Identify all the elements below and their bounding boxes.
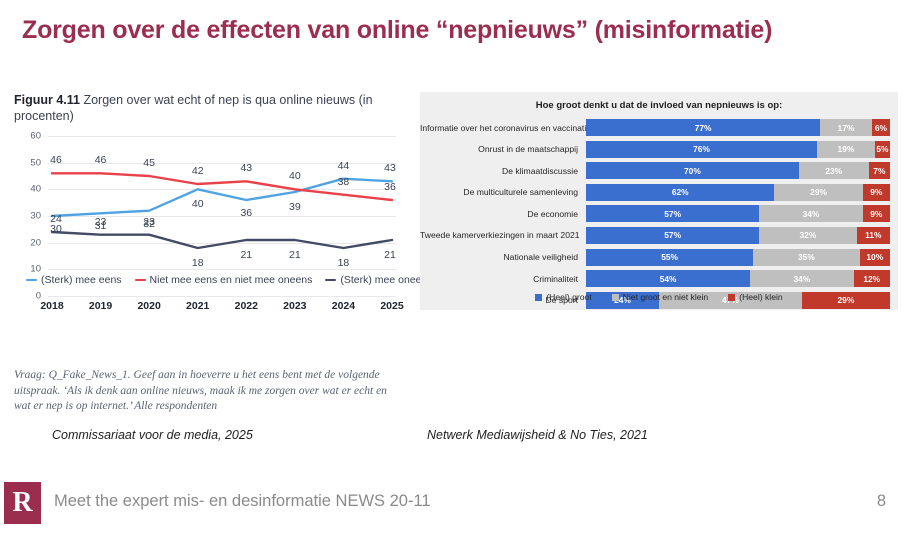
line-chart-legend: (Sterk) mee eensNiet mee eens en niet me… [26,274,398,286]
bar-category-label: Criminaliteit [420,274,586,284]
bar-legend-item-0[interactable]: (Heel) groot [535,292,591,302]
x-axis-tick-label: 2023 [283,300,306,312]
data-point-label: 46 [50,154,62,166]
bar-segment-red: 9% [863,184,890,201]
bar-category-label: De economie [420,209,586,219]
data-point-label: 43 [240,162,252,174]
bar-row: De multiculturele samenleving62%29%9% [420,183,890,202]
line-series-2 [52,232,392,248]
bar-row: De klimaatdiscussie70%23%7% [420,161,890,180]
data-point-label: 18 [338,257,350,269]
y-axis-tick-label: 40 [30,184,41,195]
legend-item-1[interactable]: Niet mee eens en niet mee oneens [135,274,313,286]
question-note: Vraag: Q_Fake_News_1. Geef aan in hoever… [14,368,394,415]
data-point-label: 40 [289,170,301,182]
line-chart: 0102030405060303132403639444346464542434… [14,136,398,326]
page-number: 8 [877,492,886,511]
brand-logo: R [4,482,41,524]
data-point-label: 21 [240,249,252,261]
legend-label: (Sterk) mee eens [41,274,122,286]
bar-row: Criminaliteit54%34%12% [420,269,890,288]
legend-label: (Sterk) mee oneens [340,274,432,286]
data-point-label: 45 [143,157,155,169]
bar-segment-blue: 55% [586,249,753,266]
right-chart-panel: Hoe groot denkt u dat de invloed van nep… [420,92,898,310]
bar-segment-red: 9% [863,205,890,222]
data-point-label: 46 [95,154,107,166]
data-point-label: 36 [384,181,396,193]
bar-segment-blue: 77% [586,119,820,136]
bar-segment-gray: 19% [817,141,875,158]
data-point-label: 36 [240,207,252,219]
x-axis-tick-label: 2020 [137,300,160,312]
source-left: Commissariaat voor de media, 2025 [52,428,253,442]
bar-row: Tweede kamerverkiezingen in maart 202157… [420,226,890,245]
legend-swatch-icon [26,279,37,281]
data-point-label: 38 [338,176,350,188]
legend-swatch-icon [535,294,542,301]
data-point-label: 21 [289,249,301,261]
bar-segment-blue: 70% [586,162,799,179]
bar-legend-label: (Heel) groot [546,292,591,302]
data-point-label: 21 [384,249,396,261]
legend-item-0[interactable]: (Sterk) mee eens [26,274,122,286]
bar-track: 55%35%10% [586,249,890,266]
legend-item-2[interactable]: (Sterk) mee oneens [325,274,432,286]
bar-track: 70%23%7% [586,162,890,179]
bar-category-label: Informatie over het coronavirus en vacci… [420,123,586,133]
bar-row: Informatie over het coronavirus en vacci… [420,118,890,137]
bar-legend-item-1[interactable]: Niet groot en niet klein [612,292,709,302]
bar-row: Onrust in de maatschappij76%19%5% [420,140,890,159]
y-axis-tick-label: 30 [30,211,41,222]
y-axis-tick-label: 50 [30,157,41,168]
data-point-label: 23 [143,216,155,228]
data-point-label: 44 [338,160,350,172]
line-chart-plot-area: 0102030405060303132403639444346464542434… [48,136,396,296]
bar-legend-label: Niet groot en niet klein [623,292,709,302]
bar-segment-blue: 54% [586,270,750,287]
bar-chart-rows: Informatie over het coronavirus en vacci… [420,118,890,312]
bar-track: 77%17%6% [586,119,890,136]
legend-swatch-icon [612,294,619,301]
data-point-label: 43 [384,162,396,174]
gridline: 0 [48,296,396,297]
bar-segment-gray: 35% [753,249,859,266]
data-point-label: 40 [192,198,204,210]
figure-caption: Figuur 4.11 Zorgen over wat echt of nep … [14,92,400,124]
bar-row: Nationale veiligheid55%35%10% [420,248,890,267]
bar-track: 57%34%9% [586,205,890,222]
figure-number: Figuur 4.11 [14,93,80,107]
slide-root: Zorgen over de effecten van online “nepn… [0,0,908,538]
bar-track: 54%34%12% [586,270,890,287]
bar-segment-gray: 23% [799,162,869,179]
bar-legend-item-2[interactable]: (Heel) klein [728,292,782,302]
bar-category-label: Nationale veiligheid [420,252,586,262]
bar-category-label: De multiculturele samenleving [420,187,586,197]
y-axis-tick-label: 20 [30,237,41,248]
bar-segment-gray: 32% [759,227,856,244]
bar-segment-gray: 29% [774,184,862,201]
data-point-label: 24 [50,213,62,225]
legend-swatch-icon [728,294,735,301]
left-chart-panel: Figuur 4.11 Zorgen over wat echt of nep … [0,88,412,338]
bar-segment-red: 11% [857,227,890,244]
bar-category-label: Tweede kamerverkiezingen in maart 2021 [420,230,586,240]
x-axis-tick-label: 2024 [332,300,355,312]
bar-category-label: De klimaatdiscussie [420,166,586,176]
bar-track: 57%32%11% [586,227,890,244]
bar-segment-red: 5% [875,141,890,158]
x-axis-tick-label: 2018 [40,300,63,312]
bar-track: 62%29%9% [586,184,890,201]
bar-segment-red: 12% [854,270,890,287]
legend-label: Niet mee eens en niet mee oneens [150,274,313,286]
x-axis-tick-label: 2019 [89,300,112,312]
bar-segment-blue: 57% [586,227,759,244]
bar-segment-gray: 17% [820,119,872,136]
bar-segment-red: 10% [860,249,890,266]
bar-track: 76%19%5% [586,141,890,158]
footer-text: Meet the expert mis- en desinformatie NE… [54,492,431,511]
bar-chart-legend: (Heel) grootNiet groot en niet klein(Hee… [420,292,898,302]
data-point-label: 39 [289,201,301,213]
source-right: Netwerk Mediawijsheid & No Ties, 2021 [427,428,648,442]
bar-segment-red: 6% [872,119,890,136]
bar-segment-blue: 57% [586,205,759,222]
x-axis-tick-label: 2022 [235,300,258,312]
data-point-label: 42 [192,165,204,177]
data-point-label: 23 [95,216,107,228]
bar-segment-gray: 34% [759,205,862,222]
bar-segment-blue: 76% [586,141,817,158]
bar-segment-gray: 34% [750,270,853,287]
x-axis-tick-label: 2025 [380,300,403,312]
bar-legend-label: (Heel) klein [739,292,782,302]
bar-category-label: Onrust in de maatschappij [420,144,586,154]
y-axis-tick-label: 60 [30,131,41,142]
page-title: Zorgen over de effecten van online “nepn… [22,16,772,45]
legend-swatch-icon [325,279,336,281]
x-axis-tick-label: 2021 [186,300,209,312]
bar-segment-red: 7% [869,162,890,179]
data-point-label: 18 [192,257,204,269]
legend-swatch-icon [135,279,146,281]
bar-row: De economie57%34%9% [420,204,890,223]
bar-chart-title: Hoe groot denkt u dat de invloed van nep… [420,100,898,111]
bar-segment-blue: 62% [586,184,774,201]
